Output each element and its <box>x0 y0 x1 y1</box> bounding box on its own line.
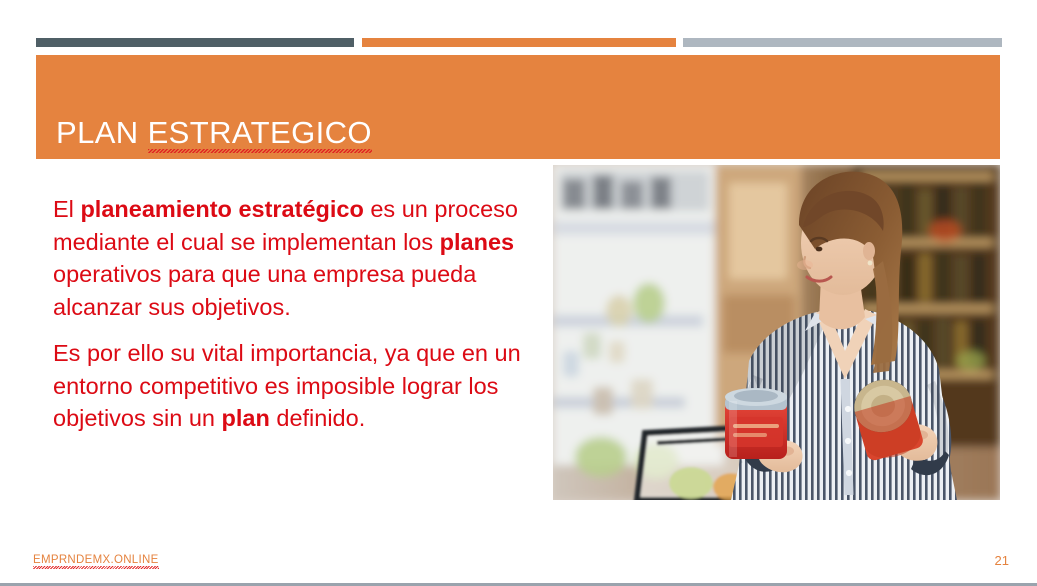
shopper-comparing-jars-photo <box>553 165 1000 500</box>
page-title-prefix: PLAN <box>56 115 148 150</box>
top-accent-bar-orange <box>362 38 676 47</box>
text-run: El <box>53 196 80 222</box>
title-banner: PLAN ESTRATEGICO <box>36 55 1000 159</box>
slide-canvas: PLAN ESTRATEGICO El planeamiento estraté… <box>0 0 1037 586</box>
footer-brand: EMPRNDEMX.ONLINE <box>33 554 159 566</box>
emphasis-run: planeamiento estratégico <box>80 196 363 222</box>
body-text-column: El planeamiento estratégico es un proces… <box>53 193 523 435</box>
emphasis-run: plan <box>222 405 270 431</box>
paragraph-2: Es por ello su vital importancia, ya que… <box>53 337 523 435</box>
text-run: definido. <box>270 405 365 431</box>
top-accent-bar-gray <box>683 38 1002 47</box>
photo-illustration <box>553 165 1000 500</box>
page-title-misspelled-word: ESTRATEGICO <box>148 115 372 151</box>
emphasis-run: planes <box>440 229 514 255</box>
top-accent-bar-dark <box>36 38 354 47</box>
text-run: operativos para que una empresa pueda al… <box>53 261 476 320</box>
paragraph-1: El planeamiento estratégico es un proces… <box>53 193 523 323</box>
page-title: PLAN ESTRATEGICO <box>56 115 372 151</box>
page-number: 21 <box>995 553 1009 568</box>
footer-brand-text: EMPRNDEMX.ONLINE <box>33 554 159 566</box>
